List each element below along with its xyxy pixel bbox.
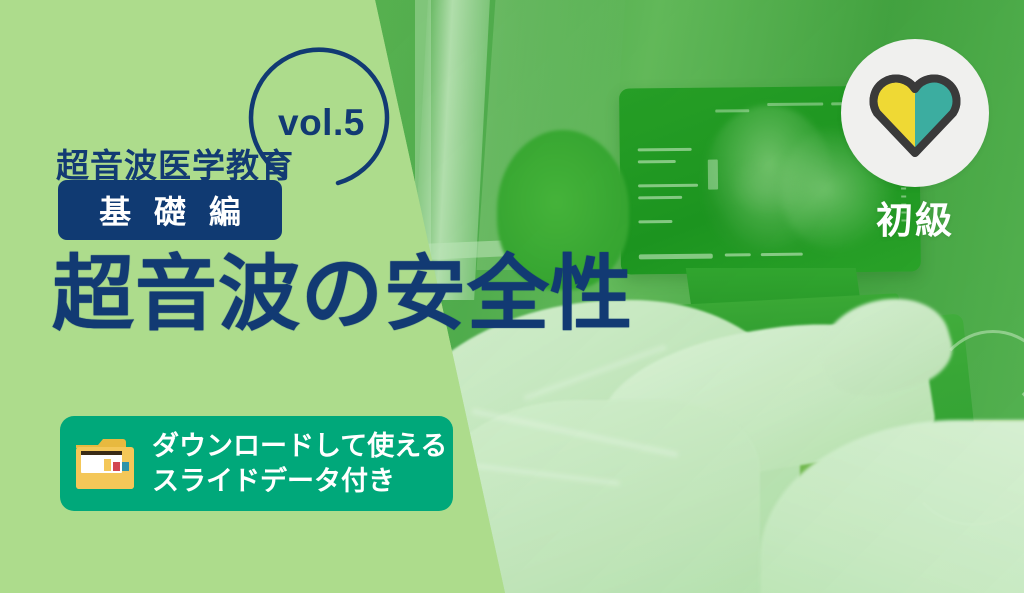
level-badge-label: 基 礎 編 — [92, 187, 248, 233]
monitor-text-line — [639, 254, 713, 260]
download-badge[interactable]: ダウンロードして使える スライドデータ付き — [60, 416, 453, 511]
beginner-badge — [841, 39, 989, 187]
monitor-marker — [708, 160, 718, 190]
download-badge-line1: ダウンロードして使える — [152, 429, 447, 464]
monitor-text-line — [638, 160, 676, 163]
monitor-text-line — [638, 196, 682, 199]
monitor-text-line — [638, 220, 672, 223]
level-badge: 基 礎 編 — [58, 180, 282, 240]
slide-folder-icon — [74, 435, 136, 493]
page-title: 超音波の安全性 — [52, 251, 633, 340]
monitor-text-line — [638, 148, 692, 152]
monitor-header-text — [767, 102, 823, 106]
volume-label: vol.5 — [278, 102, 365, 144]
monitor-text-line — [725, 253, 751, 256]
course-banner: vol.5 超音波医学教育 基 礎 編 超音波の安全性 ダウンロードして使える … — [0, 0, 1024, 593]
monitor-text-line — [638, 184, 698, 188]
download-badge-line2: スライドデータ付き — [152, 464, 447, 499]
download-badge-text: ダウンロードして使える スライドデータ付き — [152, 429, 447, 498]
beginner-level-label: 初級 — [841, 190, 989, 244]
scan-image-region-c — [732, 157, 803, 216]
monitor-text-line — [761, 253, 803, 256]
wakaba-beginner-mark-icon — [867, 65, 963, 161]
monitor-header-text — [715, 109, 749, 112]
